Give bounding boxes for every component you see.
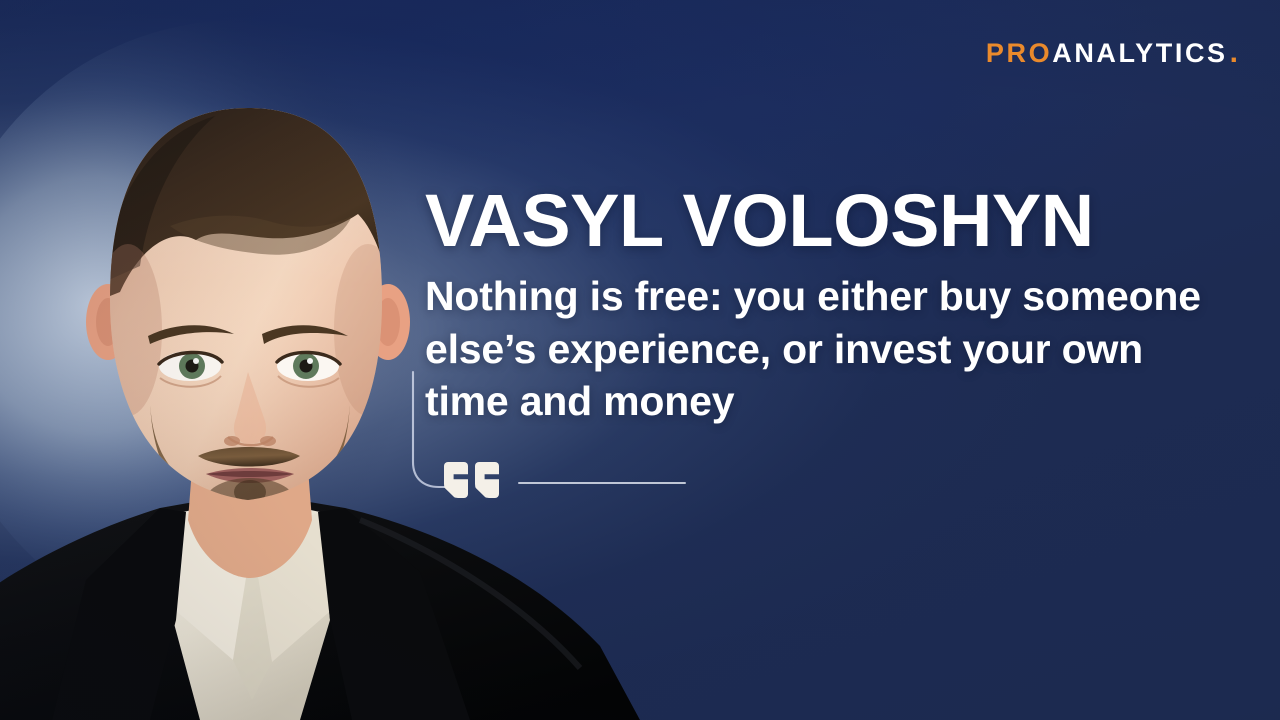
slide-canvas: PRO ANALYTICS . VASYL VOLOSHYN Nothing i… [0, 0, 1280, 720]
speaker-name: VASYL VOLOSHYN [425, 183, 1215, 258]
logo-text-pro: PRO [986, 40, 1052, 67]
quote-underline-rule [518, 482, 686, 484]
brand-logo[interactable]: PRO ANALYTICS . [986, 38, 1238, 68]
logo-accent-dot: . [1230, 38, 1238, 68]
logo-text-analytics: ANALYTICS [1052, 40, 1227, 67]
quote-mark-icon [444, 462, 499, 498]
speaker-text-block: VASYL VOLOSHYN Nothing is free: you eith… [425, 183, 1215, 428]
quote-mark-left-glyph [444, 462, 468, 498]
quote-text: Nothing is free: you either buy someone … [425, 270, 1215, 427]
quote-mark-right-glyph [475, 462, 499, 498]
